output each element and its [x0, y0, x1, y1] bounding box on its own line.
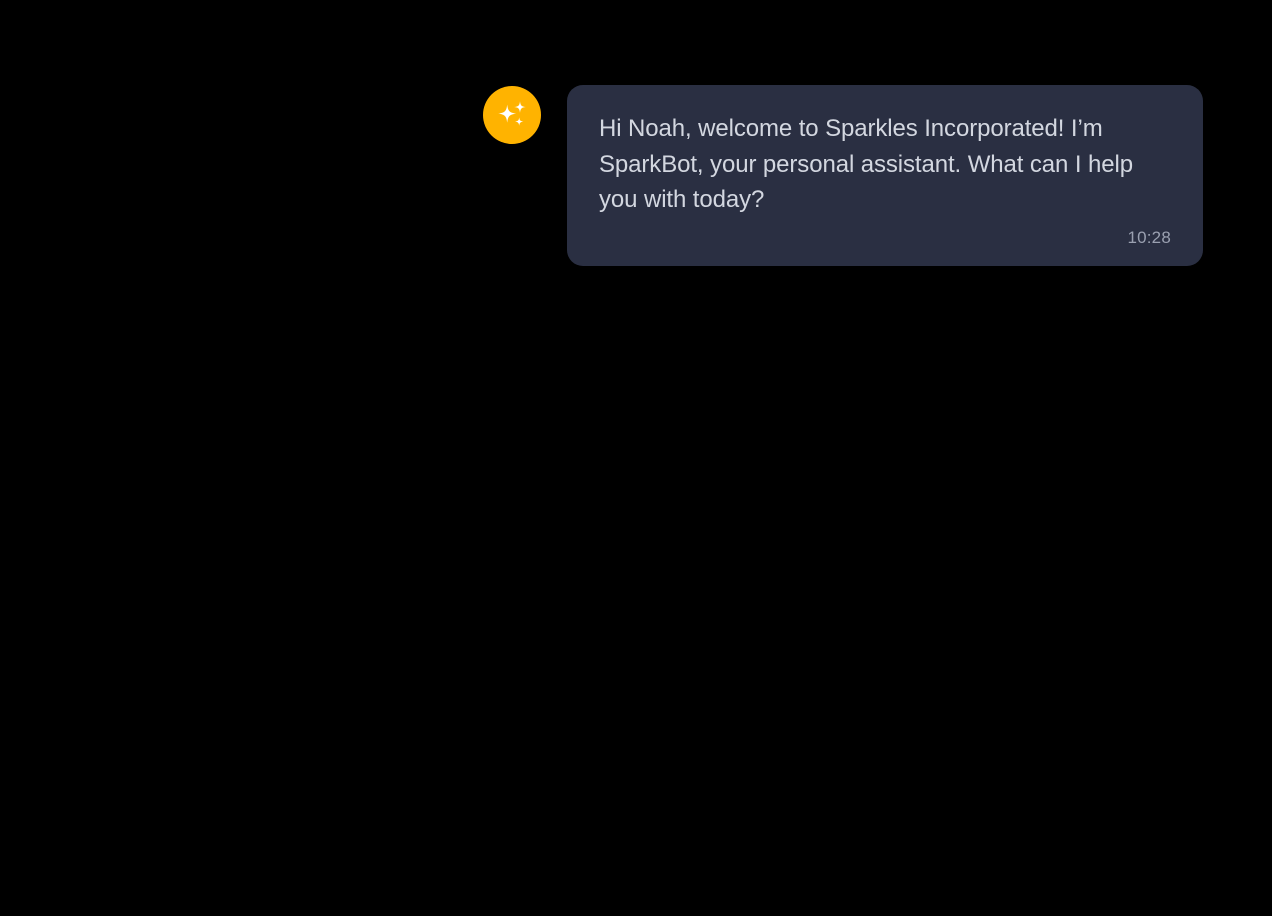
message-timestamp: 10:28 [1127, 228, 1171, 248]
avatar [483, 86, 541, 144]
message-bubble: Hi Noah, welcome to Sparkles Incorporate… [567, 85, 1203, 266]
chat-canvas: Hi Noah, welcome to Sparkles Incorporate… [0, 0, 1272, 916]
message-text: Hi Noah, welcome to Sparkles Incorporate… [599, 111, 1171, 218]
sparkles-icon [494, 97, 530, 133]
chat-message-bot: Hi Noah, welcome to Sparkles Incorporate… [483, 85, 1203, 266]
